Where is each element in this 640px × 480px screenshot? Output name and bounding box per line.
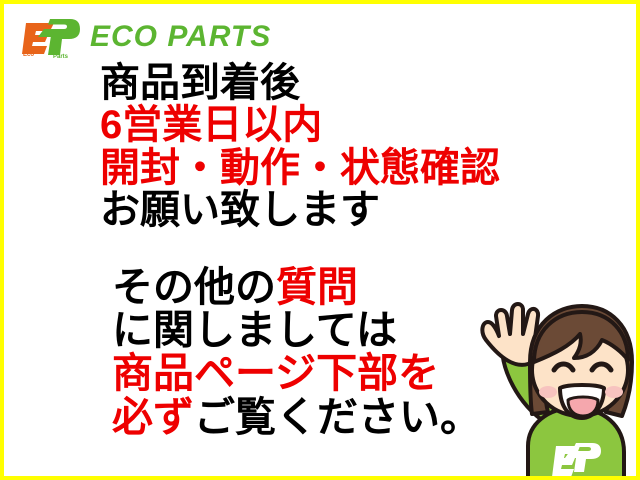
question-line-4-b: ご覧ください。 <box>194 394 481 440</box>
eco-parts-logo-icon: Eco Parts <box>20 15 82 59</box>
banner-image: Eco Parts ECO PARTS 商品到着後 6営業日以内 開封・動作・状… <box>0 0 640 480</box>
question-line-1-b: 質問 <box>276 264 358 310</box>
notice-line-4: お願い致します <box>100 189 570 231</box>
waving-woman-illustration-icon <box>456 296 640 480</box>
brand-header: Eco Parts ECO PARTS <box>20 14 271 60</box>
question-line-4-a: 必ず <box>112 394 194 440</box>
logo-sub-eco: Eco <box>23 52 34 58</box>
notice-line-3: 開封・動作・状態確認 <box>100 147 570 189</box>
notice-line-2: 6営業日以内 <box>100 104 570 146</box>
brand-wordmark: ECO PARTS <box>90 20 271 54</box>
logo-sub-parts: Parts <box>53 54 69 59</box>
notice-line-1: 商品到着後 <box>100 62 570 104</box>
paragraph-spacer <box>100 232 570 266</box>
question-line-1-a: その他の <box>112 264 276 310</box>
